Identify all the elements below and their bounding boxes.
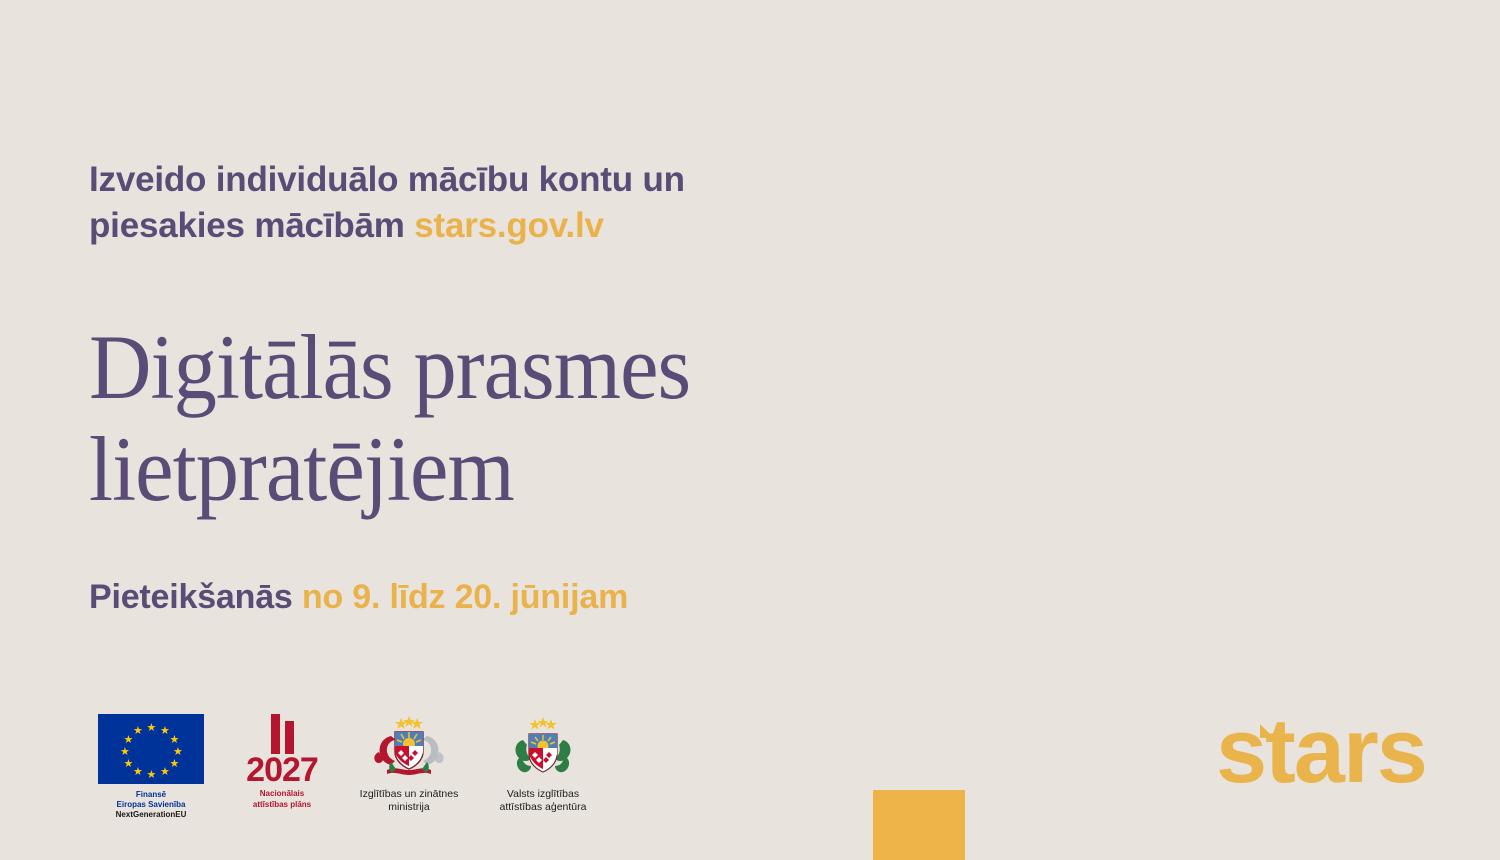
shirt-collar xyxy=(1156,250,1326,352)
eu-flag-icon: ★ ★ ★ ★ ★ ★ ★ ★ ★ ★ ★ ★ xyxy=(98,714,204,784)
eu-caption-line-1: Finansē xyxy=(92,790,210,800)
logo-izm: Izglītības un zinātnes ministrija xyxy=(354,714,464,815)
stars-wordmark-icon: stars xyxy=(1216,708,1446,800)
logo-viaa: Valsts izglītības attīstības aģentūra xyxy=(488,714,598,815)
nap-year: 2027 xyxy=(246,755,318,786)
stars-url-link[interactable]: stars.gov.lv xyxy=(414,206,604,245)
logo-nap-2027: 2027 Nacionālais attīstības plāns xyxy=(234,714,330,810)
kicker-text: Izveido individuālo mācību kontu un pies… xyxy=(89,157,809,249)
nap-caption-line-2: attīstības plāns xyxy=(253,800,311,810)
kicker-line-2-prefix: piesakies mācībām xyxy=(89,206,414,245)
izm-caption-line-2: ministrija xyxy=(360,801,459,814)
nap-caption-line-1: Nacionālais xyxy=(253,789,311,799)
text-column: Izveido individuālo mācību kontu un pies… xyxy=(0,0,900,860)
stars-brand-logo: stars xyxy=(1216,708,1446,800)
beard xyxy=(1217,218,1412,375)
page-title: Digitālās prasmes lietpratējiem xyxy=(89,316,841,520)
background-person-hair xyxy=(1304,34,1486,430)
stars-wordmark-text: stars xyxy=(1216,708,1426,800)
shirt-button xyxy=(1193,542,1204,553)
viaa-caption-line-1: Valsts izglītības xyxy=(500,788,587,801)
shirt-button xyxy=(1196,421,1207,432)
background-person-body xyxy=(1332,189,1500,481)
application-period: Pieteikšanās no 9. līdz 20. jūnijam xyxy=(89,578,628,617)
gingham-shirt xyxy=(884,258,1472,757)
application-period-range: no 9. līdz 20. jūnijam xyxy=(302,578,628,616)
nap-bars-icon xyxy=(271,714,294,754)
hair xyxy=(1183,19,1432,223)
izm-caption-line-1: Izglītības un zinātnes xyxy=(360,788,459,801)
application-period-label: Pieteikšanās xyxy=(89,578,302,616)
headline-line-1: Digitālās prasmes xyxy=(89,316,841,418)
kicker-line-1: Izveido individuālo mācību kontu un xyxy=(89,160,685,199)
latvian-state-emblem-icon xyxy=(501,714,585,784)
campaign-poster: Izveido individuālo mācību kontu un pies… xyxy=(0,0,1500,860)
latvian-coat-of-arms-icon xyxy=(361,714,457,784)
funder-logo-strip: ★ ★ ★ ★ ★ ★ ★ ★ ★ ★ ★ ★ Finan xyxy=(92,714,598,821)
viaa-caption: Valsts izglītības attīstības aģentūra xyxy=(500,788,587,815)
eu-caption-line-2: Eiropas Savienība xyxy=(92,800,210,810)
headline-line-2: lietpratējiem xyxy=(89,418,841,520)
eu-logo-caption: Finansē Eiropas Savienība NextGeneration… xyxy=(92,790,210,821)
head xyxy=(1185,38,1436,374)
viaa-caption-line-2: attīstības aģentūra xyxy=(500,801,587,814)
nap-caption: Nacionālais attīstības plāns xyxy=(253,789,311,810)
eu-stars-circle: ★ ★ ★ ★ ★ ★ ★ ★ ★ ★ ★ ★ xyxy=(98,714,204,784)
izm-caption: Izglītības un zinātnes ministrija xyxy=(360,788,459,815)
eu-caption-line-3: NextGenerationEU xyxy=(92,810,210,820)
logo-eu-nextgeneration: ★ ★ ★ ★ ★ ★ ★ ★ ★ ★ ★ ★ Finan xyxy=(92,714,210,821)
